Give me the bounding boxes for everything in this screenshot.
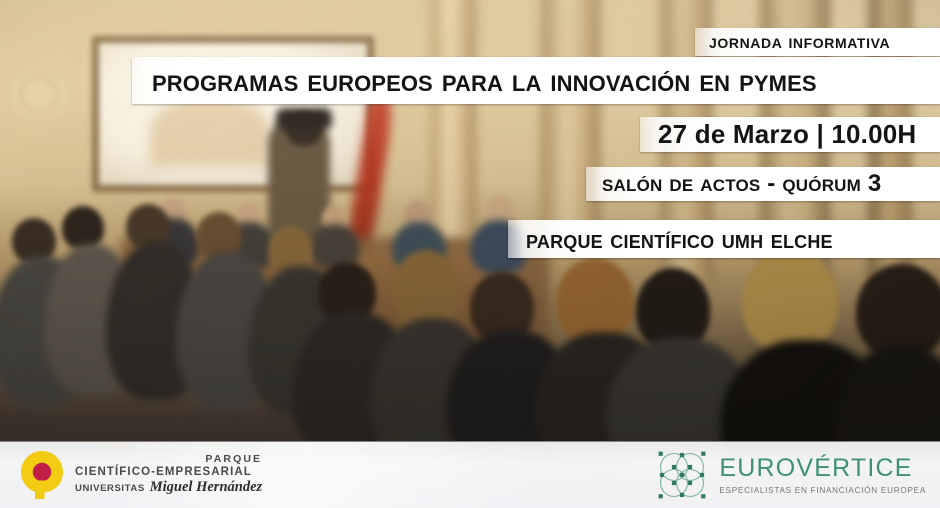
eurovertice-logo[interactable]: EUROVÉRTICE ESPECIALISTAS EN FINANCIACIÓ…	[655, 449, 926, 501]
date-time-text: 27 de Marzo | 10.00H	[658, 119, 916, 150]
kicker-bar: Jornada informativa	[695, 28, 940, 56]
place-bar: Parque científico UMH Elche	[508, 220, 940, 258]
umh-line-1: PARQUE	[75, 453, 262, 465]
eurovertice-logo-text: EUROVÉRTICE ESPECIALISTAS EN FINANCIACIÓ…	[719, 456, 926, 495]
umh-line-3: UNIVERSITAS Miguel Hernández	[75, 479, 262, 496]
umh-logo-text: PARQUE CIENTÍFICO-EMPRESARIAL UNIVERSITA…	[75, 453, 262, 496]
umh-parque-cientifico-logo-icon	[18, 449, 66, 501]
footer-bar: PARQUE CIENTÍFICO-EMPRESARIAL UNIVERSITA…	[0, 441, 940, 508]
eurovertice-tagline: ESPECIALISTAS EN FINANCIACIÓN EUROPEA	[719, 486, 926, 495]
place-text: Parque científico UMH Elche	[526, 224, 833, 255]
eurovertice-circles-logo-icon	[655, 449, 709, 501]
title-bar: Programas Europeos para la Innovación en…	[132, 57, 940, 104]
umh-logo[interactable]: PARQUE CIENTÍFICO-EMPRESARIAL UNIVERSITA…	[18, 449, 262, 501]
umh-line-2: CIENTÍFICO-EMPRESARIAL	[75, 466, 262, 480]
venue-bar: Salón de actos - quórum 3	[586, 167, 940, 201]
event-poster: Jornada informativa Programas Europeos p…	[0, 0, 940, 508]
kicker-text: Jornada informativa	[709, 31, 890, 54]
venue-text: Salón de actos - quórum 3	[602, 170, 881, 198]
umh-universitas-text: UNIVERSITAS	[75, 483, 145, 494]
umh-miguel-hernandez-text: Miguel Hernández	[150, 479, 262, 496]
date-bar: 27 de Marzo | 10.00H	[640, 117, 940, 152]
page-title: Programas Europeos para la Innovación en…	[152, 62, 817, 99]
eurovertice-name: EUROVÉRTICE	[719, 456, 926, 481]
